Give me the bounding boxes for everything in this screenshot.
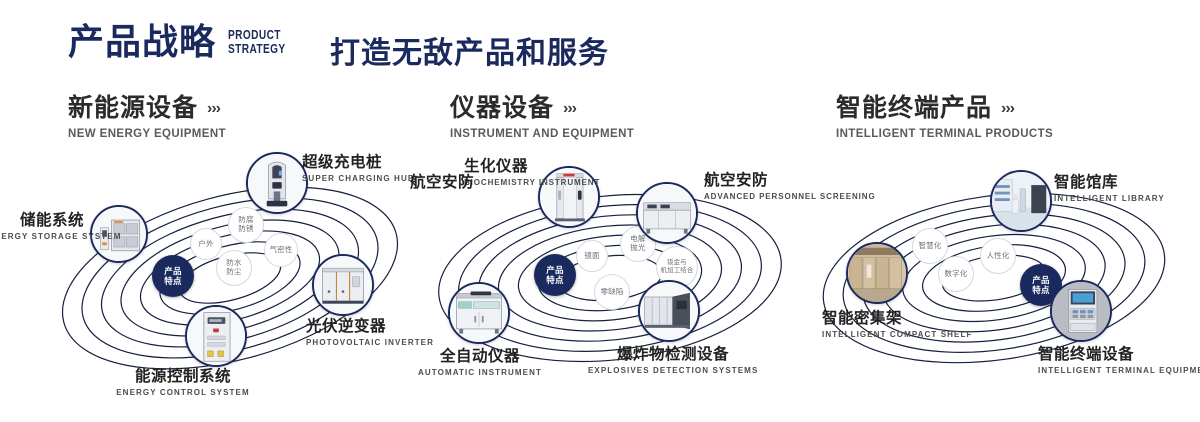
label-explosives-detection-systems: 爆炸物检测设备 EXPLOSIVES DETECTION SYSTEMS	[588, 346, 758, 377]
feature-bubble-zero-defect: 零缺陷	[594, 274, 630, 310]
label-automatic-instrument: 全自动仪器 AUTOMATIC INSTRUMENT	[400, 348, 560, 379]
kiosk-terminal-icon	[1052, 282, 1110, 340]
section-title-en: INSTRUMENT AND EQUIPMENT	[450, 128, 634, 140]
center-bubble-line2: 特点	[1032, 285, 1049, 295]
page-title-english: PRODUCT STRATEGY	[228, 28, 286, 55]
label-cn: 全自动仪器	[400, 348, 560, 365]
cluster-new-energy-equipment: 产品 特点 户外 防腐 防锈 防水 防尘 气密性	[30, 150, 430, 410]
label-en: ENERGY STORAGE SYSTEM	[0, 232, 84, 243]
label-intelligent-terminal-equipment: 智能终端设备 INTELLIGENT TERMINAL EQUIPMENT	[1038, 346, 1200, 377]
feature-line2: 机加工结合	[661, 267, 694, 275]
node-explosives-detection-systems[interactable]	[638, 280, 700, 342]
section-title-cn-text: 新能源设备	[68, 94, 198, 122]
feature-bubble-anticorrosion: 防腐 防锈	[228, 207, 264, 243]
label-en: INTELLIGENT TERMINAL EQUIPMENT	[1038, 366, 1200, 377]
label-intelligent-compact-shelf: 智能密集架 INTELLIGENT COMPACT SHELF	[822, 310, 952, 341]
section-title-cn: 新能源设备›››	[68, 96, 226, 121]
section-title-cn-text: 仪器设备	[450, 94, 554, 122]
feature-line1: 数字化	[944, 270, 967, 279]
label-en: EXPLOSIVES DETECTION SYSTEMS	[588, 366, 758, 377]
section-title-cn: 智能终端产品›››	[836, 96, 1053, 121]
label-cn: 智能终端设备	[1038, 346, 1200, 363]
center-bubble-product-features: 产品 特点	[534, 254, 576, 296]
feature-bubble-mirror-finish: 镜面	[576, 240, 608, 272]
label-energy-control-system: 能源控制系统 ENERGY CONTROL SYSTEM	[88, 368, 278, 399]
inverter-cabinet-icon	[314, 256, 372, 314]
label-aviation-security-left: 航空安防	[410, 174, 500, 191]
control-cabinet-icon	[187, 307, 245, 365]
center-bubble-product-features: 产品 特点	[152, 255, 194, 297]
chevron-right-icon: ›››	[1001, 101, 1014, 117]
node-automatic-instrument[interactable]	[448, 282, 510, 344]
label-cn: 储能系统	[0, 212, 84, 229]
feature-line2: 抛光	[630, 244, 645, 253]
label-cn: 智能密集架	[822, 310, 952, 327]
center-bubble-line1: 产品	[1032, 275, 1049, 285]
center-bubble-line2: 特点	[164, 276, 181, 286]
section-title-en: NEW ENERGY EQUIPMENT	[68, 128, 226, 140]
label-en: AUTOMATIC INSTRUMENT	[400, 368, 560, 379]
section-title-instrument: 仪器设备››› INSTRUMENT AND EQUIPMENT	[450, 96, 634, 140]
charging-pile-icon	[248, 154, 306, 212]
page-title-english-line1: PRODUCT	[228, 28, 286, 42]
feature-line1: 户外	[198, 240, 213, 249]
node-intelligent-library[interactable]	[990, 170, 1052, 232]
label-en: INTELLIGENT COMPACT SHELF	[822, 330, 952, 341]
feature-bubble-airtightness: 气密性	[264, 233, 298, 267]
center-bubble-line2: 特点	[546, 275, 563, 285]
node-intelligent-terminal-equipment[interactable]	[1050, 280, 1112, 342]
page-subtitle: 打造无敌产品和服务	[330, 28, 609, 72]
section-title-terminal: 智能终端产品››› INTELLIGENT TERMINAL PRODUCTS	[836, 96, 1053, 140]
poster-canvas: 产品战略 PRODUCT STRATEGY 打造无敌产品和服务 新能源设备›››…	[0, 0, 1200, 422]
chevron-right-icon: ›››	[563, 101, 576, 117]
feature-line2: 防锈	[238, 225, 253, 234]
feature-bubble-humanized: 人性化	[980, 238, 1016, 274]
auto-analyzer-icon	[450, 284, 508, 342]
poster-header: 产品战略 PRODUCT STRATEGY	[68, 24, 302, 60]
node-super-charging-hub[interactable]	[246, 152, 308, 214]
section-title-new-energy: 新能源设备››› NEW ENERGY EQUIPMENT	[68, 96, 226, 140]
library-room-icon	[992, 172, 1050, 230]
detection-unit-icon	[640, 282, 698, 340]
node-photovoltaic-inverter[interactable]	[312, 254, 374, 316]
feature-line2: 防尘	[226, 268, 241, 277]
chevron-right-icon: ›››	[207, 101, 220, 117]
feature-line1: 零缺陷	[600, 288, 623, 297]
feature-line1: 人性化	[986, 252, 1009, 261]
node-advanced-personnel-screening[interactable]	[636, 182, 698, 244]
section-title-en: INTELLIGENT TERMINAL PRODUCTS	[836, 128, 1053, 140]
feature-bubble-outdoor: 户外	[190, 228, 222, 260]
page-title: 产品战略	[68, 24, 216, 60]
section-title-cn: 仪器设备›››	[450, 96, 634, 121]
feature-line1: 气密性	[269, 246, 292, 255]
cluster-instrument-and-equipment: 产品 特点 镜面 电解 抛光 钣金与 机加工结合 零缺陷	[408, 150, 808, 410]
label-cn: 航空安防	[410, 174, 500, 191]
feature-bubble-digital: 数字化	[938, 256, 974, 292]
page-title-english-line2: STRATEGY	[228, 42, 286, 56]
compact-shelf-icon	[848, 244, 906, 302]
label-cn: 智能馆库	[1054, 174, 1194, 191]
feature-line1: 镜面	[584, 252, 599, 261]
section-title-cn-text: 智能终端产品	[836, 94, 992, 122]
label-cn: 生化仪器	[464, 158, 584, 175]
label-cn: 爆炸物检测设备	[588, 346, 758, 363]
cluster-intelligent-terminal-products: 产品 特点 智慧化 数字化 人性化	[798, 150, 1198, 410]
feature-line1: 钣金与	[661, 259, 694, 267]
label-en: ENERGY CONTROL SYSTEM	[88, 388, 278, 399]
node-energy-control-system[interactable]	[185, 305, 247, 367]
screening-machine-icon	[638, 184, 696, 242]
label-intelligent-library: 智能馆库 INTELLIGENT LIBRARY	[1054, 174, 1194, 205]
feature-bubble-intelligent: 智慧化	[912, 228, 948, 264]
label-cn: 能源控制系统	[88, 368, 278, 385]
label-en: INTELLIGENT LIBRARY	[1054, 194, 1194, 205]
feature-bubble-waterproof: 防水 防尘	[216, 250, 252, 286]
center-bubble-line1: 产品	[164, 266, 181, 276]
label-energy-storage-system: 储能系统 ENERGY STORAGE SYSTEM	[0, 212, 84, 243]
feature-line1: 智慧化	[918, 242, 941, 251]
center-bubble-line1: 产品	[546, 265, 563, 275]
node-intelligent-compact-shelf[interactable]	[846, 242, 908, 304]
